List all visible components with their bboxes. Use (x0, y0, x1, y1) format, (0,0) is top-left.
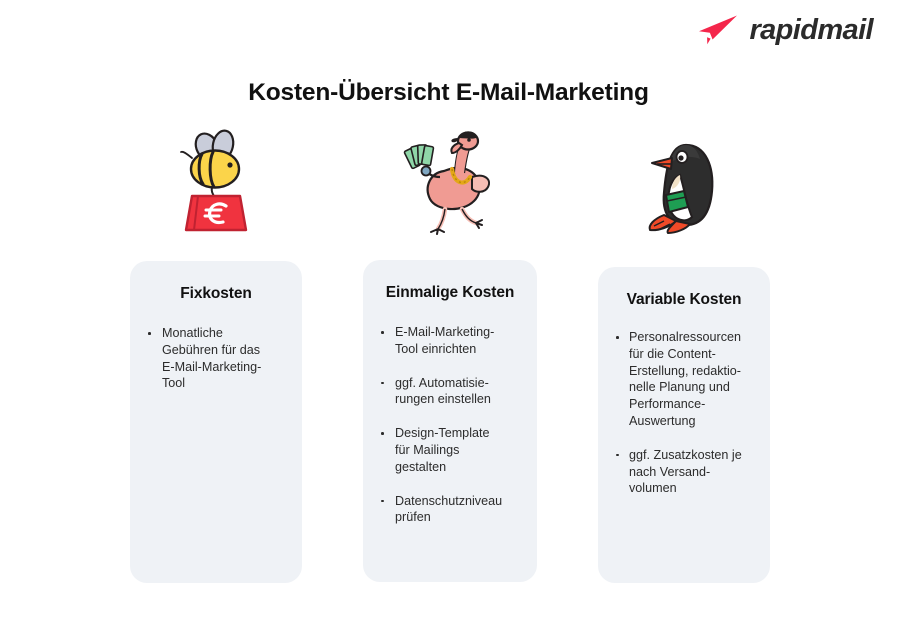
bullet-list: E-Mail-Marketing- Tool einrichten ggf. A… (377, 324, 523, 526)
cost-columns: Fixkosten Monatliche Gebühren für das E-… (130, 125, 770, 583)
list-item-text: E-Mail-Marketing- Tool einrichten (395, 324, 523, 358)
list-item-text: ggf. Automatisie- rungen einstellen (395, 375, 523, 409)
paper-plane-icon (696, 14, 740, 46)
bullet-dot-icon (381, 432, 384, 435)
list-item: Monatliche Gebühren für das E-Mail-Marke… (144, 325, 288, 392)
bullet-dot-icon (616, 454, 619, 457)
bee-with-euro-shopping-bag-illustration (168, 125, 264, 235)
list-item-text: Design-Template für Mailings gestalten (395, 425, 523, 475)
list-item: ggf. Zusatzkosten je nach Versand- volum… (612, 447, 756, 497)
card-title: Einmalige Kosten (377, 284, 523, 302)
card-title: Variable Kosten (612, 291, 756, 309)
list-item: Personalressourcen für die Content- Erst… (612, 329, 756, 430)
cost-card-fixkosten: Fixkosten Monatliche Gebühren für das E-… (130, 261, 302, 583)
bullet-dot-icon (381, 331, 384, 334)
logo-wordmark: rapidmail (749, 16, 873, 45)
bullet-dot-icon (381, 382, 384, 385)
card-title: Fixkosten (144, 285, 288, 303)
bullet-dot-icon (616, 336, 619, 339)
list-item-text: Datenschutzniveau prüfen (395, 493, 523, 527)
bullet-list: Personalressourcen für die Content- Erst… (612, 329, 756, 497)
list-item-text: Personalressourcen für die Content- Erst… (629, 329, 756, 430)
cost-column-fixkosten: Fixkosten Monatliche Gebühren für das E-… (130, 125, 302, 583)
bullet-list: Monatliche Gebühren für das E-Mail-Marke… (144, 325, 288, 392)
list-item: Design-Template für Mailings gestalten (377, 425, 523, 475)
list-item: Datenschutzniveau prüfen (377, 493, 523, 527)
cost-column-variable-kosten: Variable Kosten Personalressourcen für d… (598, 125, 770, 583)
rapidmail-logo[interactable]: rapidmail (696, 14, 873, 46)
list-item: ggf. Automatisie- rungen einstellen (377, 375, 523, 409)
list-item-text: Monatliche Gebühren für das E-Mail-Marke… (162, 325, 288, 392)
list-item: E-Mail-Marketing- Tool einrichten (377, 324, 523, 358)
cost-card-einmalige-kosten: Einmalige Kosten E-Mail-Marketing- Tool … (363, 260, 537, 582)
bullet-dot-icon (148, 332, 151, 335)
list-item-text: ggf. Zusatzkosten je nach Versand- volum… (629, 447, 756, 497)
cost-column-einmalige-kosten: Einmalige Kosten E-Mail-Marketing- Tool … (363, 125, 537, 582)
page-title: Kosten-Übersicht E-Mail-Marketing (0, 79, 897, 107)
penguin-with-wallet-illustration (638, 125, 730, 235)
cost-card-variable-kosten: Variable Kosten Personalressourcen für d… (598, 267, 770, 583)
flamingo-with-money-illustration (400, 125, 500, 235)
bullet-dot-icon (381, 500, 384, 503)
